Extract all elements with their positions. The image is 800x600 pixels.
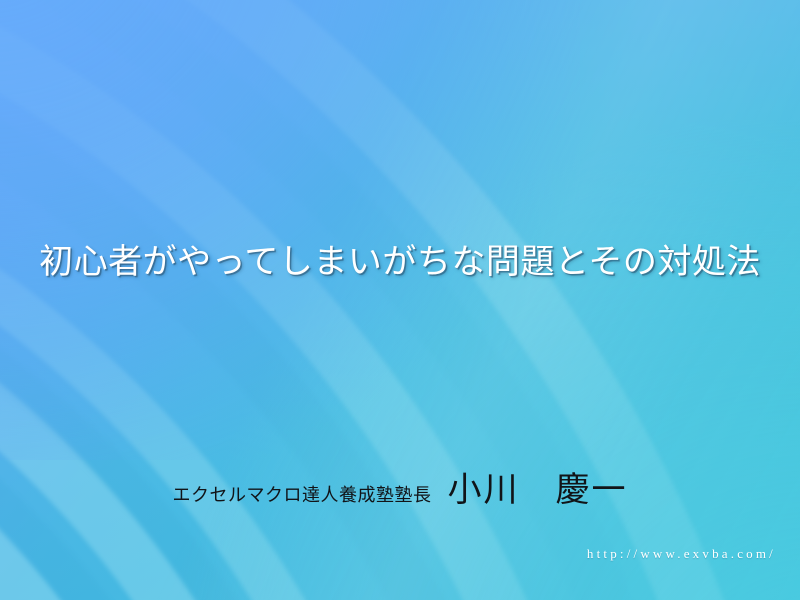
- website-url[interactable]: http://www.exvba.com/: [587, 546, 776, 562]
- presenter-byline: エクセルマクロ達人養成塾塾長小川 慶一: [0, 462, 800, 511]
- slide-content: 初心者がやってしまいがちな問題とその対処法 エクセルマクロ達人養成塾塾長小川 慶…: [0, 0, 800, 600]
- title-slide: 初心者がやってしまいがちな問題とその対処法 エクセルマクロ達人養成塾塾長小川 慶…: [0, 0, 800, 600]
- presenter-name: 小川 慶一: [448, 470, 628, 510]
- presenter-role: エクセルマクロ達人養成塾塾長: [173, 485, 432, 506]
- slide-title: 初心者がやってしまいがちな問題とその対処法: [0, 241, 800, 284]
